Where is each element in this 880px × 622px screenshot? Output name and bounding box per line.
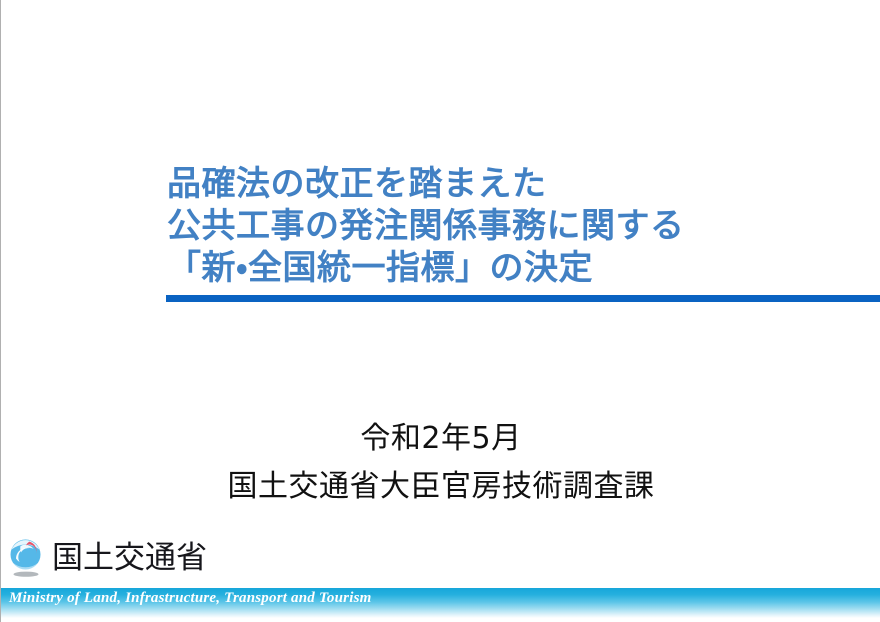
ministry-name-ja: 国土交通省 xyxy=(52,541,207,575)
title-line-3: 「新・全国統一指標」の決定 xyxy=(167,247,880,289)
title-underline-rule xyxy=(166,295,880,302)
slide-title: 品確法の改正を踏まえた 公共工事の発注関係事務に関する 「新・全国統一指標」の決… xyxy=(167,163,880,289)
mlit-swirl-logo-icon xyxy=(7,538,45,578)
title-line-1: 品確法の改正を踏まえた xyxy=(167,163,880,205)
title-line-2: 公共工事の発注関係事務に関する xyxy=(167,205,880,247)
footer-gradient-bar: Ministry of Land, Infrastructure, Transp… xyxy=(1,588,880,618)
ministry-branding: 国土交通省 xyxy=(7,538,207,578)
slide-footer: 国土交通省 Ministry of Land, Infrastructure, … xyxy=(1,535,880,622)
ministry-name-en: Ministry of Land, Infrastructure, Transp… xyxy=(9,590,371,607)
slide-subtitle-block: 令和2年5月 国土交通省大臣官房技術調査課 xyxy=(1,415,880,511)
subtitle-organization: 国土交通省大臣官房技術調査課 xyxy=(1,463,880,511)
presentation-slide: 品確法の改正を踏まえた 公共工事の発注関係事務に関する 「新・全国統一指標」の決… xyxy=(0,0,880,622)
subtitle-date: 令和2年5月 xyxy=(1,415,880,463)
